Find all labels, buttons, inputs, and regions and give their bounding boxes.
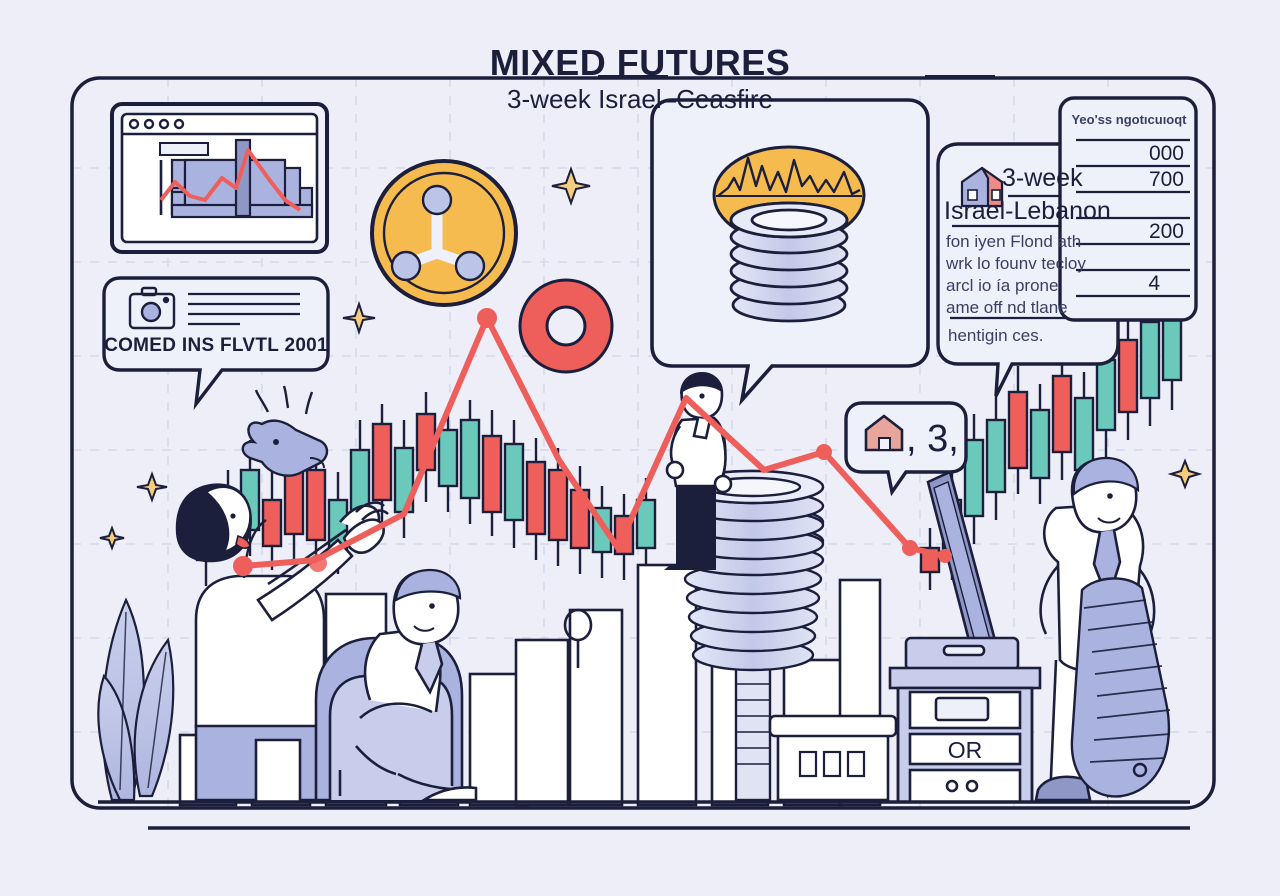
right-callout-footer: hentigin ces. xyxy=(948,326,1043,346)
stats-value-2: 700 xyxy=(1076,168,1184,192)
stats-value-3: 200 xyxy=(1076,220,1184,244)
basket xyxy=(770,716,896,800)
illustration-canvas: OR xyxy=(0,0,1280,896)
right-callout-body-3: arcl io ía prone xyxy=(946,276,1058,296)
cabinet-label: OR xyxy=(948,737,983,763)
page-subtitle: 3-week Israel–Ceasfire xyxy=(0,84,1280,115)
stats-value-1: 000 xyxy=(1076,142,1184,166)
mini-callout-label: , 3, xyxy=(906,418,959,461)
coin-stack-icon xyxy=(731,203,847,321)
stats-value-4: 4 xyxy=(1076,272,1160,296)
scene-svg: OR xyxy=(0,0,1280,896)
browser-window[interactable] xyxy=(112,104,327,252)
search-bar xyxy=(160,143,208,155)
page-title: MIXED FUTURES xyxy=(0,42,1280,84)
right-callout-body-2: wrk lo founv tecloy xyxy=(946,254,1086,274)
right-callout-heading-1: 3-week xyxy=(1002,164,1083,193)
network-coin-icon xyxy=(372,161,516,305)
stats-panel-header: Yeo'ss ngotıcuıoqt xyxy=(1070,112,1188,127)
right-callout-body-4: ame off nd tlane xyxy=(946,298,1068,318)
left-callout-caption: COMED INS FLVTL 2001 xyxy=(104,335,328,357)
donut-icon xyxy=(520,280,612,372)
center-callout[interactable] xyxy=(652,100,928,400)
right-callout-body-1: fon iyen Flond ath xyxy=(946,232,1081,252)
